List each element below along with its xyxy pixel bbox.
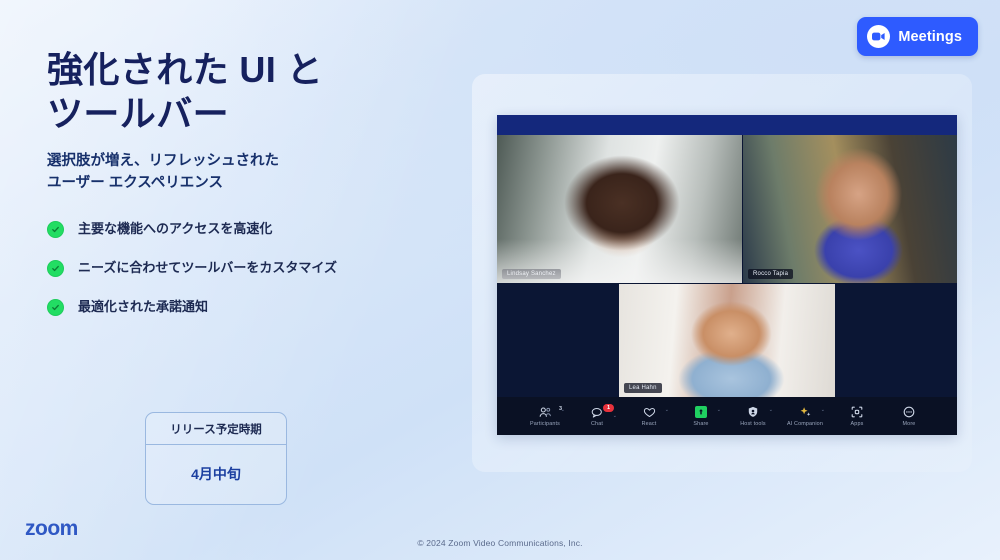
zoom-window-titlebar <box>497 115 957 135</box>
left-content: 強化された UI と ツールバー 選択肢が増え、リフレッシュされた ユーザー エ… <box>47 48 467 338</box>
toolbar-label: Chat <box>591 421 603 427</box>
more-icon <box>903 406 915 419</box>
share-screen-icon <box>695 406 707 419</box>
toolbar-react-button[interactable]: ⌄ React <box>623 406 675 427</box>
list-item-label: ニーズに合わせてツールバーをカスタマイズ <box>78 260 337 277</box>
heart-icon <box>643 406 656 419</box>
toolbar-label: Host tools <box>740 421 765 427</box>
participant-name-tag: Rocco Tapia <box>748 269 793 279</box>
feature-bullet-list: 主要な機能へのアクセスを高速化 ニーズに合わせてツールバーをカスタマイズ 最適化… <box>47 221 467 316</box>
release-date-header: リリース予定時期 <box>146 413 286 445</box>
sparkle-icon <box>799 406 812 419</box>
participants-icon <box>539 406 552 419</box>
chevron-down-icon[interactable]: ⌄ <box>613 413 617 419</box>
video-camera-icon <box>867 25 890 48</box>
toolbar-label: AI Companion <box>787 421 823 427</box>
page-title-line1: 強化された UI と <box>47 49 323 90</box>
chevron-down-icon[interactable]: ⌄ <box>561 407 565 413</box>
list-item: ニーズに合わせてツールバーをカスタマイズ <box>47 260 467 277</box>
page-title-line2: ツールバー <box>47 93 229 134</box>
chevron-down-icon[interactable]: ⌄ <box>717 407 721 413</box>
toolbar-label: Apps <box>851 421 864 427</box>
meetings-badge[interactable]: Meetings <box>857 17 978 56</box>
list-item-label: 主要な機能へのアクセスを高速化 <box>78 221 272 238</box>
toolbar-more-button[interactable]: More <box>883 406 935 427</box>
video-tile-grid: Lindsay Sanchez Rocco Tapia Lea Hahn <box>497 135 957 397</box>
list-item: 主要な機能へのアクセスを高速化 <box>47 221 467 238</box>
list-item: 最適化された承諾通知 <box>47 299 467 316</box>
chevron-down-icon[interactable]: ⌄ <box>665 407 669 413</box>
toolbar-host-tools-button[interactable]: ⌄ Host tools <box>727 406 779 427</box>
chat-icon <box>591 406 604 419</box>
release-date-value: 4月中旬 <box>146 445 286 504</box>
toolbar-label: Share <box>693 421 708 427</box>
toolbar-participants-button[interactable]: 3 ⌄ Participants <box>519 406 571 427</box>
page-subtitle-line1: 選択肢が増え、リフレッシュされた <box>47 153 279 169</box>
check-circle-icon <box>47 260 64 277</box>
chat-unread-badge: 1 <box>603 404 614 412</box>
meetings-badge-label: Meetings <box>898 29 962 45</box>
check-circle-icon <box>47 221 64 238</box>
participant-name-tag: Lindsay Sanchez <box>502 269 561 279</box>
shield-icon <box>747 406 759 419</box>
page-title: 強化された UI と ツールバー <box>47 48 467 136</box>
meeting-toolbar: 3 ⌄ Participants 1 ⌄ Chat <box>497 397 957 435</box>
chevron-down-icon[interactable]: ⌄ <box>821 407 825 413</box>
chevron-down-icon[interactable]: ⌄ <box>769 407 773 413</box>
check-circle-icon <box>47 299 64 316</box>
participant-name-tag: Lea Hahn <box>624 383 662 393</box>
toolbar-ai-companion-button[interactable]: ⌄ AI Companion <box>779 406 831 427</box>
toolbar-chat-button[interactable]: 1 ⌄ Chat <box>571 406 623 427</box>
toolbar-label: More <box>903 421 916 427</box>
toolbar-apps-button[interactable]: Apps <box>831 406 883 427</box>
slide-root: Meetings 強化された UI と ツールバー 選択肢が増え、リフレッシュさ… <box>0 0 1000 560</box>
video-tile[interactable]: Rocco Tapia <box>743 135 957 283</box>
copyright-text: © 2024 Zoom Video Communications, Inc. <box>0 538 1000 548</box>
toolbar-label: React <box>642 421 657 427</box>
video-tile[interactable]: Lindsay Sanchez <box>497 135 742 283</box>
apps-icon <box>851 406 863 419</box>
video-tile[interactable]: Lea Hahn <box>619 284 835 397</box>
page-subtitle: 選択肢が増え、リフレッシュされた ユーザー エクスペリエンス <box>47 150 467 195</box>
list-item-label: 最適化された承諾通知 <box>78 299 208 316</box>
toolbar-label: Participants <box>530 421 560 427</box>
zoom-meeting-window: Lindsay Sanchez Rocco Tapia Lea Hahn <box>497 115 957 435</box>
toolbar-share-button[interactable]: ⌄ Share <box>675 406 727 427</box>
release-date-box: リリース予定時期 4月中旬 <box>145 412 287 505</box>
page-subtitle-line2: ユーザー エクスペリエンス <box>47 175 223 191</box>
